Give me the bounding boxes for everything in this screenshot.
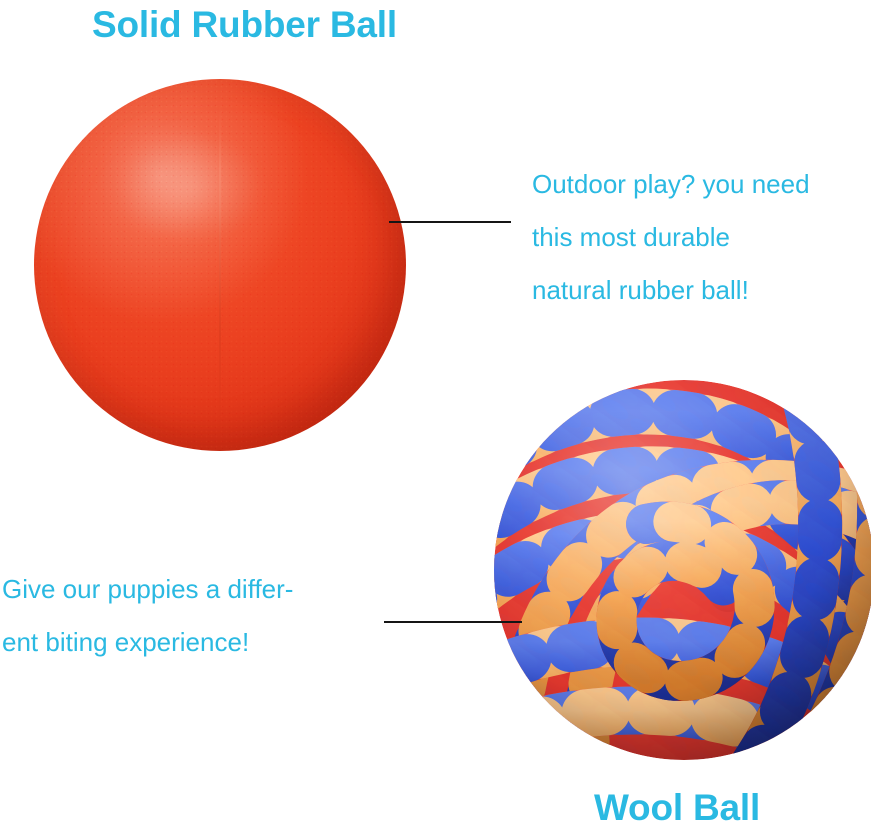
solid-rubber-ball-title: Solid Rubber Ball bbox=[92, 6, 397, 43]
product-feature-image: Solid Rubber Ball Outdoor play? you need… bbox=[0, 0, 871, 840]
wool-ball-title: Wool Ball bbox=[594, 789, 760, 826]
leader-line-wool-ball bbox=[384, 621, 522, 623]
leader-line-rubber-ball bbox=[389, 221, 511, 223]
wool-ball-svg bbox=[492, 378, 871, 762]
wool-ball-rope-strands bbox=[492, 378, 871, 762]
annotation-line: natural rubber ball! bbox=[532, 264, 810, 317]
rubber-specular-highlight bbox=[116, 131, 265, 243]
wool-ball-shading bbox=[494, 380, 871, 760]
annotation-line: Outdoor play? you need bbox=[532, 158, 810, 211]
solid-rubber-ball-image bbox=[34, 79, 406, 451]
annotation-line: Give our puppies a differ- bbox=[2, 563, 293, 616]
wool-ball-image bbox=[492, 378, 871, 762]
solid-rubber-ball-annotation: Outdoor play? you need this most durable… bbox=[532, 158, 810, 317]
annotation-line: ent biting experience! bbox=[2, 616, 293, 669]
wool-ball-annotation: Give our puppies a differ- ent biting ex… bbox=[2, 563, 293, 669]
annotation-line: this most durable bbox=[532, 211, 810, 264]
